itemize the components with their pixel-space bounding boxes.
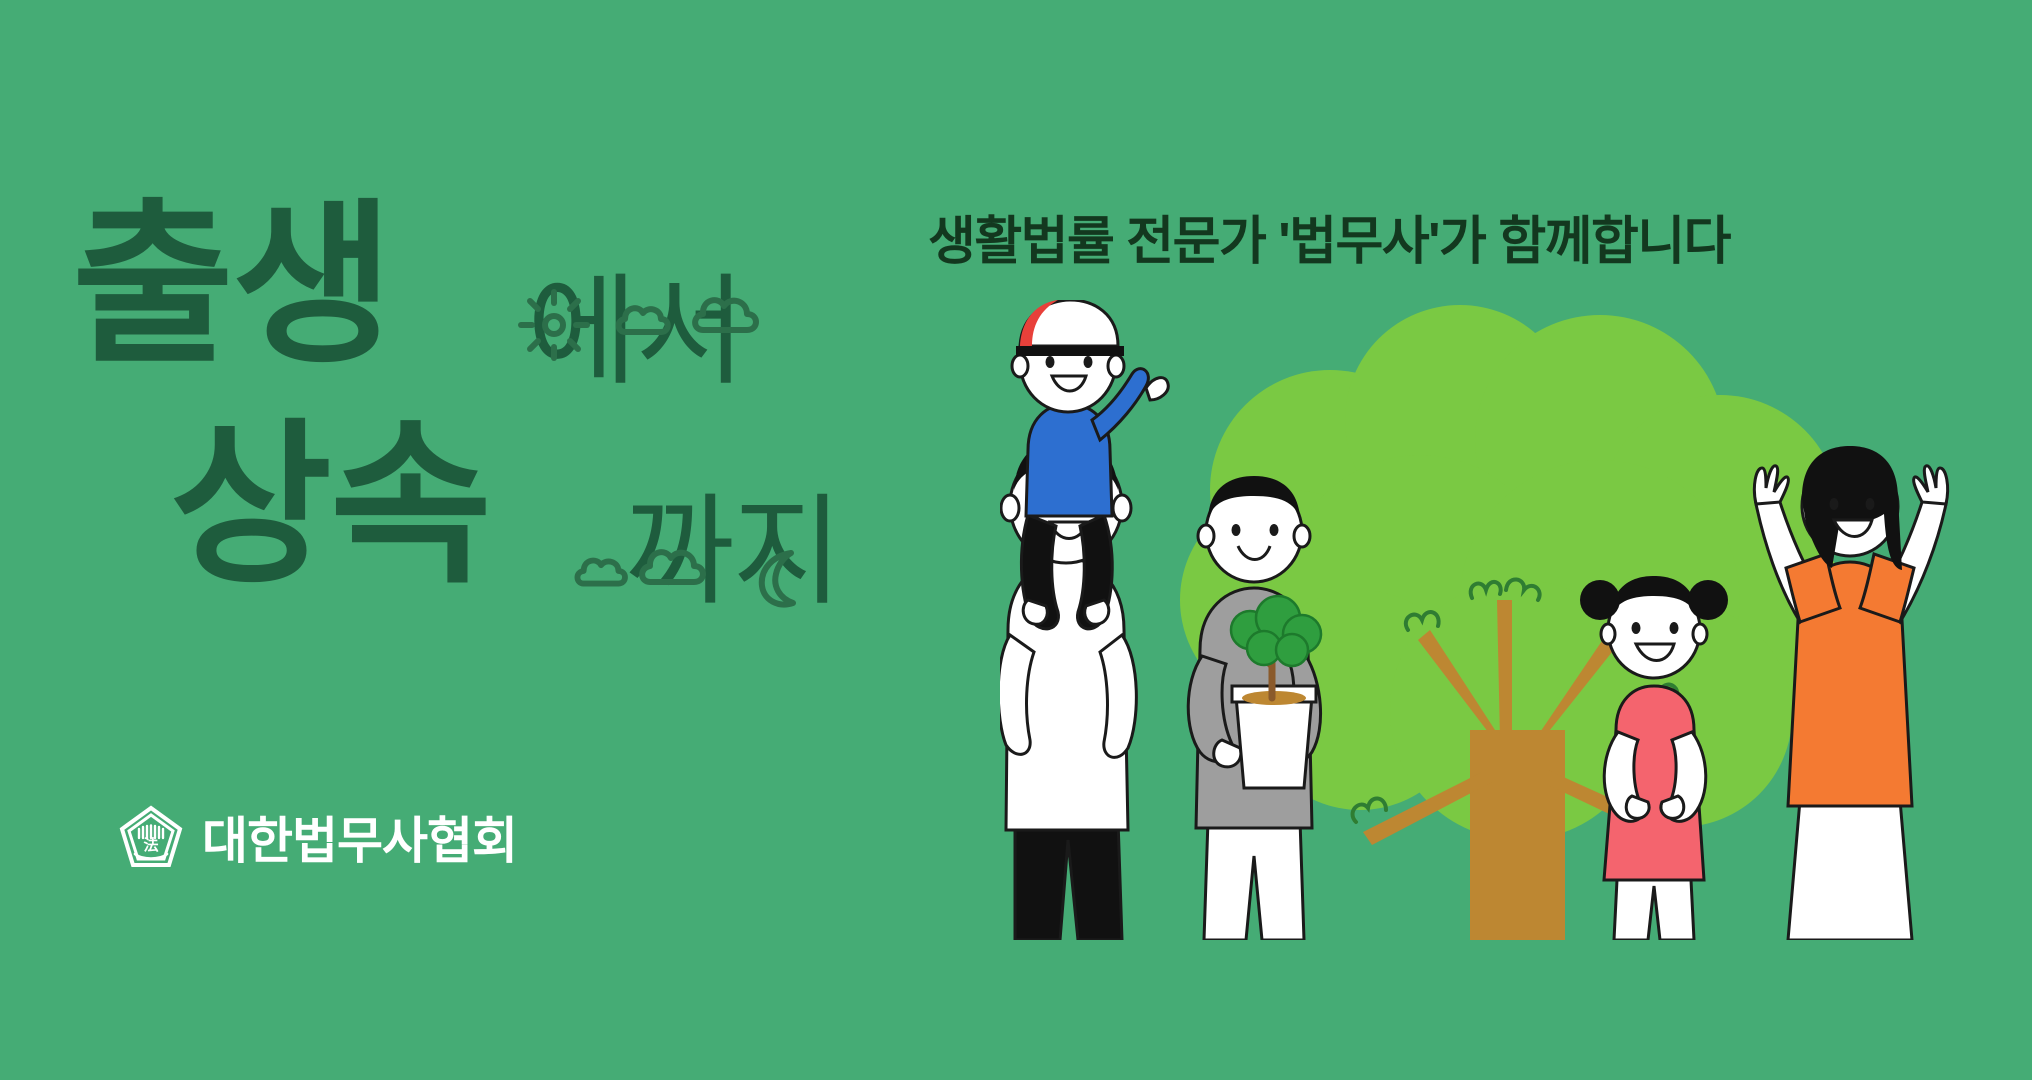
character-boy-on-shoulders (1012, 300, 1168, 629)
crescent-moon-icon (752, 548, 806, 615)
svg-text:法: 法 (143, 836, 158, 854)
family-tree-illustration (1000, 300, 2032, 940)
cloud-icon-b (689, 288, 765, 343)
sun-icon (517, 288, 591, 367)
association-emblem-icon: 法 (118, 805, 184, 876)
cloud-icon-c (572, 550, 632, 595)
tagline: 생활법률 전문가 '법무사'가 함께합니다 (928, 216, 1730, 268)
association-logo: 法 대한법무사협회 (118, 805, 517, 876)
cloud-icon-a (613, 298, 675, 343)
potted-plant (1231, 596, 1321, 788)
association-logo-text: 대한법무사협회 (202, 816, 517, 866)
headline-line1-emphasis: 출생 (72, 198, 392, 374)
cloud-icon-d (636, 540, 712, 595)
promotional-banner: 출생 에서 상속 까지 (0, 0, 2032, 1080)
headline-line2-emphasis: 상속 (170, 418, 490, 594)
